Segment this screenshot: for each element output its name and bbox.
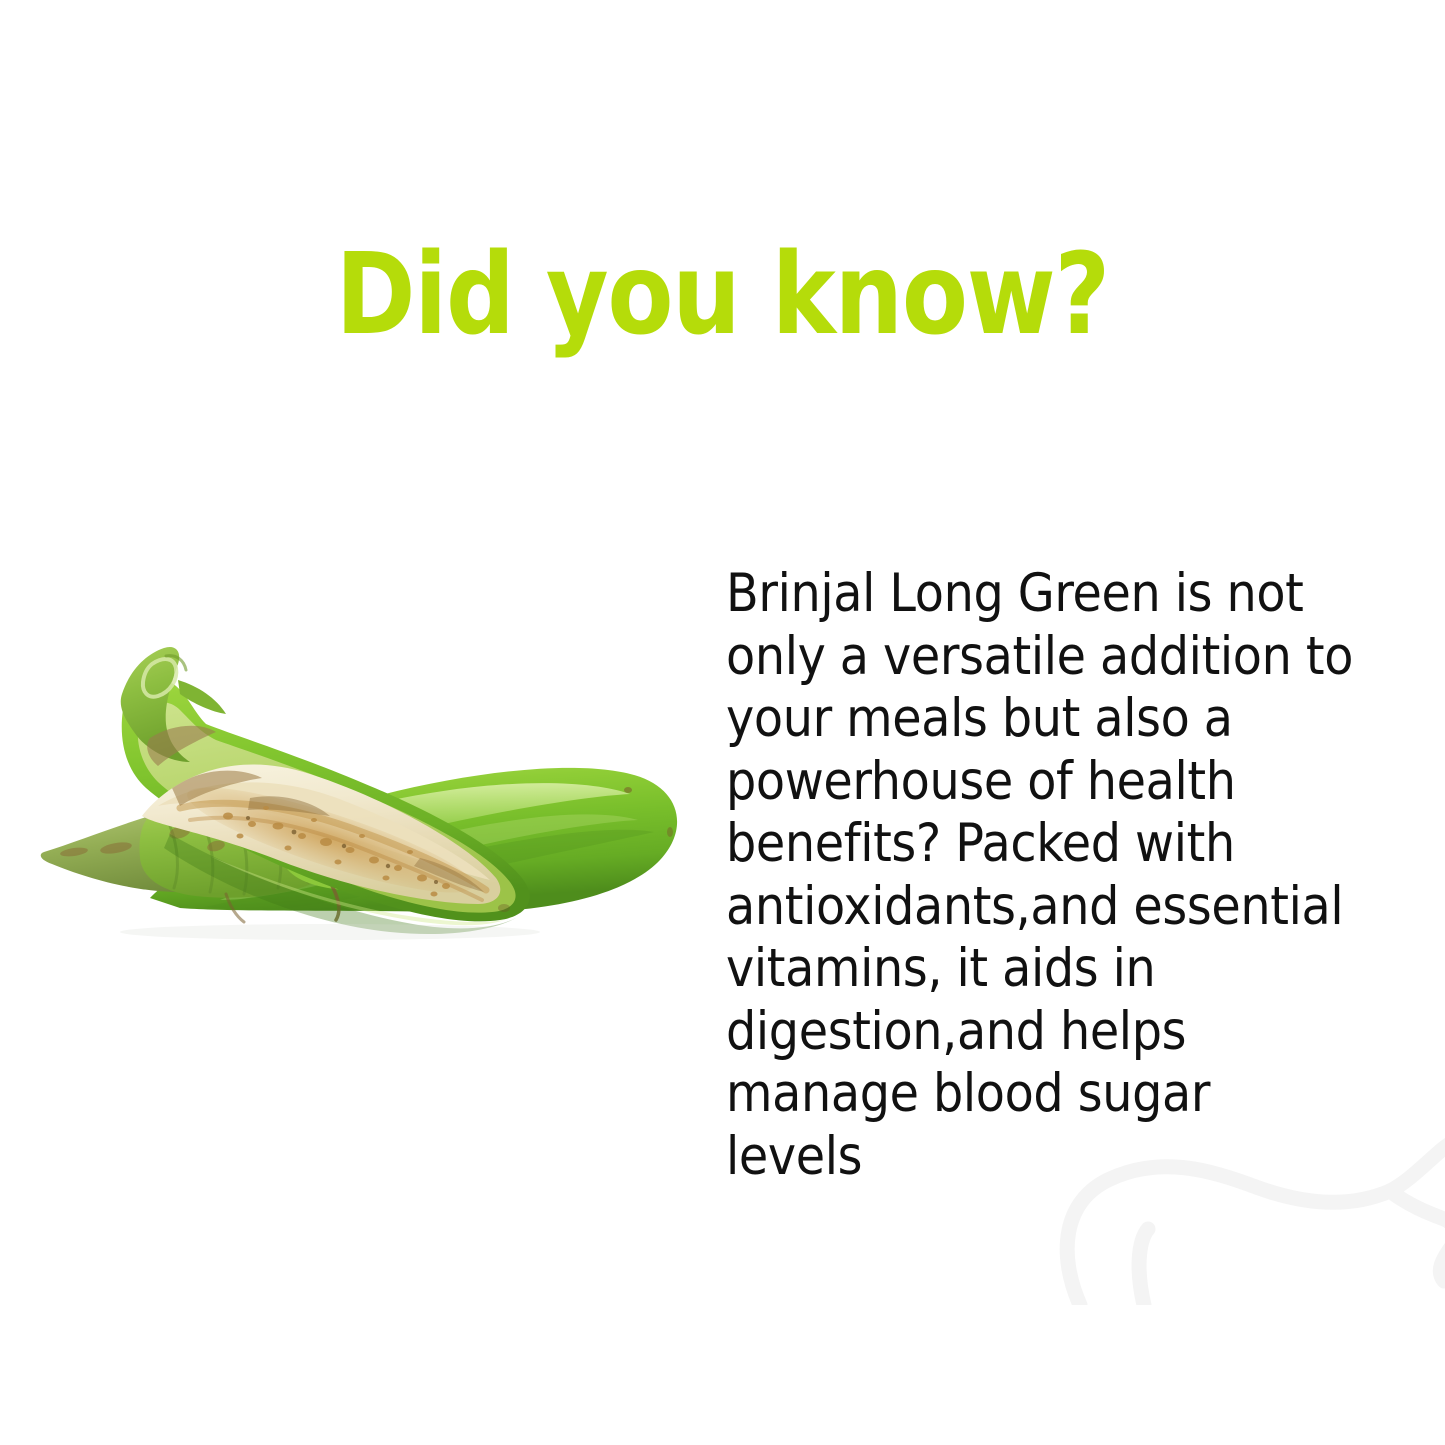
page-title: Did you know? <box>101 236 1344 355</box>
body-paragraph: Brinjal Long Green is not only a versati… <box>726 563 1356 1188</box>
brinjal-long-green-photo <box>30 620 710 960</box>
slide-canvas: Did you know? <box>0 0 1445 1445</box>
